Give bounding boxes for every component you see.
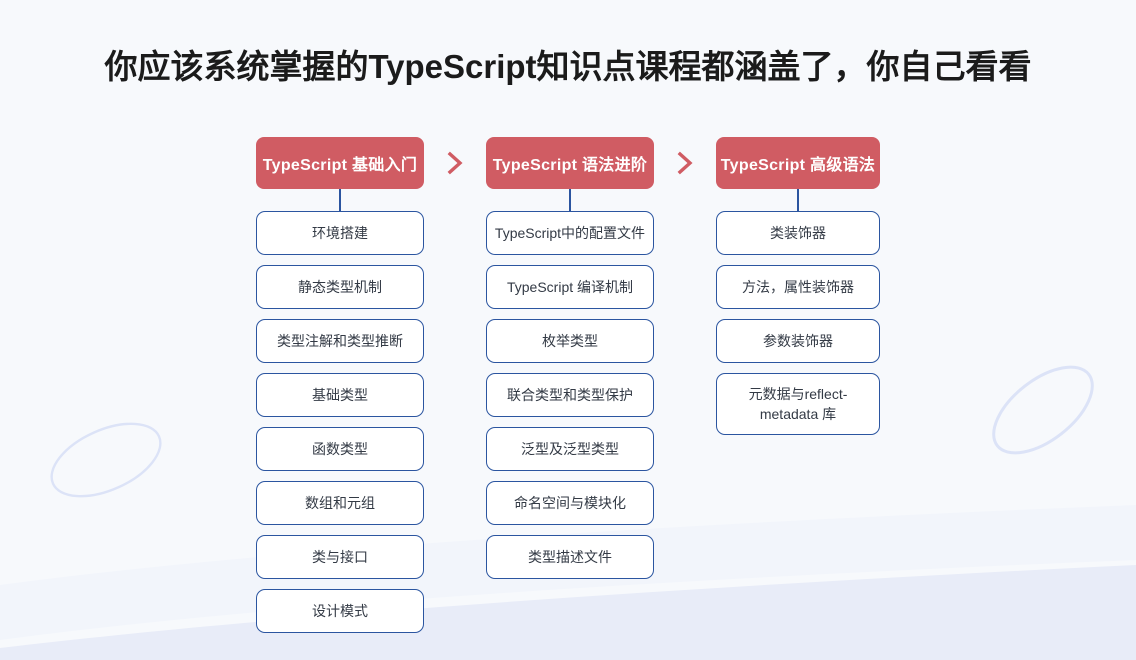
column-items-2: TypeScript中的配置文件 TypeScript 编译机制 枚举类型 联合…: [486, 211, 654, 579]
list-item[interactable]: 类装饰器: [716, 211, 880, 255]
column-header-3[interactable]: TypeScript 高级语法: [716, 137, 880, 189]
list-item[interactable]: 环境搭建: [256, 211, 424, 255]
list-item[interactable]: 类型描述文件: [486, 535, 654, 579]
chevron-right-icon: [424, 137, 486, 189]
list-item[interactable]: 函数类型: [256, 427, 424, 471]
roadmap-flow: TypeScript 基础入门 环境搭建 静态类型机制 类型注解和类型推断 基础…: [0, 137, 1136, 647]
column-header-2[interactable]: TypeScript 语法进阶: [486, 137, 654, 189]
column-connector-1: [339, 189, 341, 211]
column-items-3: 类装饰器 方法，属性装饰器 参数装饰器 元数据与reflect-metadata…: [716, 211, 880, 435]
column-header-1[interactable]: TypeScript 基础入门: [256, 137, 424, 189]
list-item[interactable]: 设计模式: [256, 589, 424, 633]
list-item[interactable]: 静态类型机制: [256, 265, 424, 309]
chevron-right-icon: [654, 137, 716, 189]
roadmap-column-1: TypeScript 基础入门 环境搭建 静态类型机制 类型注解和类型推断 基础…: [256, 137, 424, 633]
list-item[interactable]: 类与接口: [256, 535, 424, 579]
list-item[interactable]: 泛型及泛型类型: [486, 427, 654, 471]
list-item[interactable]: 命名空间与模块化: [486, 481, 654, 525]
list-item[interactable]: 元数据与reflect-metadata 库: [716, 373, 880, 435]
page-title: 你应该系统掌握的TypeScript知识点课程都涵盖了，你自己看看: [0, 40, 1136, 88]
list-item[interactable]: TypeScript 编译机制: [486, 265, 654, 309]
list-item[interactable]: 数组和元组: [256, 481, 424, 525]
list-item[interactable]: 类型注解和类型推断: [256, 319, 424, 363]
list-item[interactable]: 联合类型和类型保护: [486, 373, 654, 417]
column-connector-2: [569, 189, 571, 211]
column-items-1: 环境搭建 静态类型机制 类型注解和类型推断 基础类型 函数类型 数组和元组 类与…: [256, 211, 424, 633]
list-item[interactable]: 基础类型: [256, 373, 424, 417]
roadmap-column-3: TypeScript 高级语法 类装饰器 方法，属性装饰器 参数装饰器 元数据与…: [716, 137, 880, 435]
list-item[interactable]: 枚举类型: [486, 319, 654, 363]
list-item[interactable]: 方法，属性装饰器: [716, 265, 880, 309]
column-connector-3: [797, 189, 799, 211]
list-item[interactable]: TypeScript中的配置文件: [486, 211, 654, 255]
roadmap-column-2: TypeScript 语法进阶 TypeScript中的配置文件 TypeScr…: [486, 137, 654, 579]
list-item[interactable]: 参数装饰器: [716, 319, 880, 363]
